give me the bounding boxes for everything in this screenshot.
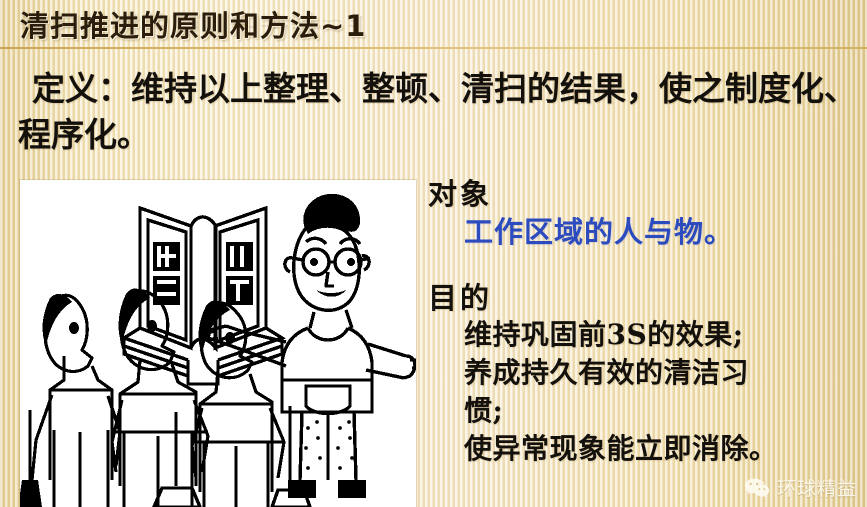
right-text-column: 对象 工作区域的人与物。 目的 维持巩固前3S的效果; 养成持久有效的清洁习 惯… bbox=[428, 176, 860, 468]
purpose-item: 使异常现象能立即消除。 bbox=[428, 430, 860, 468]
purpose-item-wrap: 惯; bbox=[428, 392, 860, 430]
cartoon-illustration bbox=[20, 180, 416, 507]
title-band: 清扫推进的原则和方法~1 清扫推进的原则和方法~1 bbox=[0, 0, 867, 56]
slide-canvas: 清扫推进的原则和方法~1 清扫推进的原则和方法~1 定义：维持以上整理、整顿、清… bbox=[0, 0, 867, 507]
watermark: 环球精益 bbox=[744, 474, 857, 501]
watermark-text: 环球精益 bbox=[777, 474, 857, 501]
object-value: 工作区域的人与物。 bbox=[428, 212, 860, 252]
wechat-icon bbox=[744, 477, 770, 499]
page-title: 清扫推进的原则和方法~1 bbox=[20, 3, 366, 45]
definition-paragraph: 定义：维持以上整理、整顿、清扫的结果，使之制度化、程序化。 bbox=[18, 66, 858, 158]
purpose-list: 维持巩固前3S的效果; 养成持久有效的清洁习 惯; 使异常现象能立即消除。 bbox=[428, 316, 860, 468]
object-heading: 对象 bbox=[428, 176, 860, 212]
purpose-item: 维持巩固前3S的效果; bbox=[428, 316, 860, 354]
illustration-panel bbox=[20, 180, 416, 507]
title-divider bbox=[0, 47, 867, 49]
purpose-block: 目的 维持巩固前3S的效果; 养成持久有效的清洁习 惯; 使异常现象能立即消除。 bbox=[428, 280, 860, 468]
purpose-item: 养成持久有效的清洁习 bbox=[428, 354, 860, 392]
purpose-heading: 目的 bbox=[428, 280, 860, 316]
